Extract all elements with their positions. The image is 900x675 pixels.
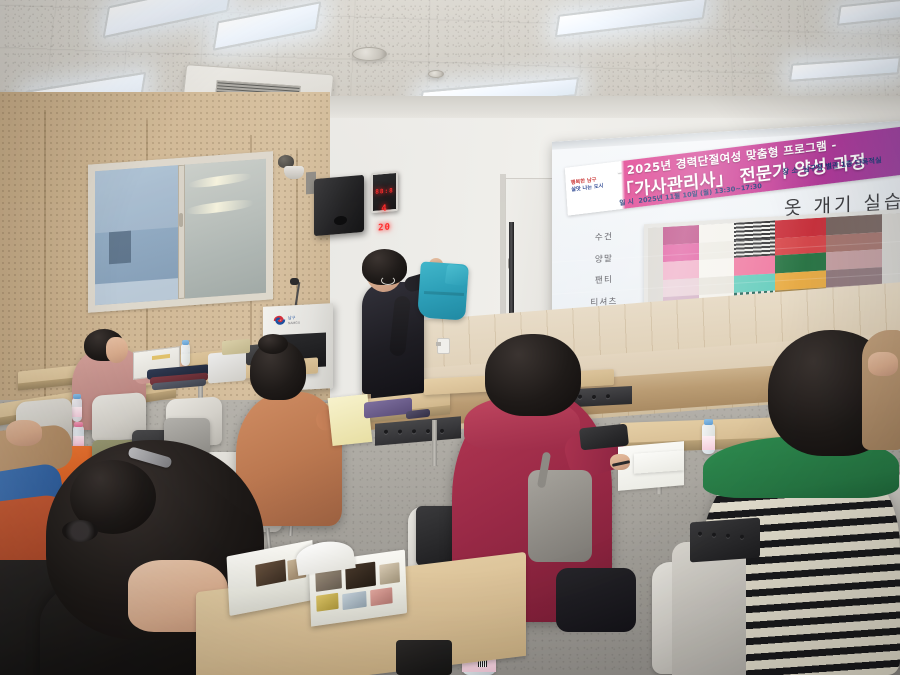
table-leg — [432, 420, 437, 466]
exterior-building — [95, 165, 178, 233]
desk-item — [222, 339, 250, 355]
city-logo: 행복한 남구 살맛 나는 도시 — [569, 175, 614, 202]
ceiling-detector-icon — [428, 70, 444, 78]
ceiling-horn-speaker-icon — [284, 166, 304, 179]
wall-seam — [44, 110, 46, 440]
clock-bottom-digits: 4 20 — [378, 204, 391, 234]
microphone-icon — [290, 278, 299, 285]
attendee-green-chair-back — [672, 542, 746, 675]
wall-outlet-icon — [436, 342, 441, 346]
exterior-window — [109, 230, 131, 264]
magazine-photo — [370, 587, 393, 606]
attendee-left-hand — [6, 420, 42, 446]
presenter-mic-headset-icon — [381, 276, 395, 285]
window-reflection — [189, 172, 251, 190]
window-handle[interactable] — [179, 213, 183, 227]
phone-object[interactable] — [396, 640, 452, 675]
water-bottle[interactable] — [72, 398, 82, 422]
window-reflection — [187, 198, 253, 216]
water-bottle[interactable] — [702, 424, 715, 454]
magazine-photo — [316, 593, 339, 612]
podium-logo: 남구 NAMGU — [271, 311, 317, 328]
classroom-photo: 88:8 4 20 행복한 남구 살맛 나는 도시 - 2025년 경력단절여성… — [0, 0, 900, 675]
window-pane-right — [185, 159, 266, 299]
slide-item: 수건 — [574, 229, 634, 245]
wall-outlet-icon — [437, 338, 450, 354]
exterior-building — [95, 278, 178, 306]
attendee-crimson-hair — [485, 334, 581, 416]
chair-cable-module — [690, 518, 760, 563]
window-pane-left — [95, 165, 178, 305]
slide-item: 팬티 — [574, 272, 634, 288]
attendee-right-edge — [862, 330, 900, 450]
table-equipment — [208, 350, 246, 383]
attendee-right-hand — [868, 352, 898, 376]
magazine-photo — [342, 591, 367, 610]
wall-speaker — [314, 175, 364, 236]
svg-text:NAMGU: NAMGU — [288, 321, 301, 326]
magazine-photo — [379, 562, 400, 585]
attendee-crimson-lap — [556, 568, 636, 632]
tshirt-sleeve — [445, 264, 470, 287]
magazine-photo — [255, 559, 286, 587]
ceiling-speaker-icon — [352, 47, 387, 61]
window-mullion — [178, 165, 185, 300]
digital-display-panel: 88:8 4 20 — [371, 171, 398, 213]
water-bottle[interactable] — [181, 344, 190, 366]
window — [88, 151, 273, 313]
svg-text:남구: 남구 — [288, 314, 296, 320]
hair-tie-icon — [62, 520, 98, 542]
wall-cornice — [300, 96, 900, 118]
taegeuk-swirl-icon: 남구 NAMGU — [271, 311, 317, 328]
attendee-rust-bun — [258, 334, 288, 354]
handout-paper[interactable] — [634, 450, 684, 473]
